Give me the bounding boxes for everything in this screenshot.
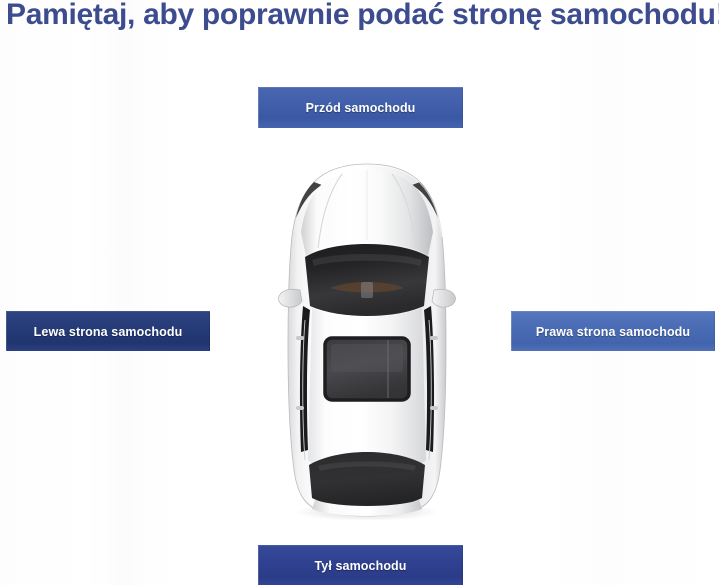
car-top-view-illustration — [272, 160, 462, 520]
label-rear-of-car[interactable]: Tył samochodu — [258, 545, 463, 585]
page-title: Pamiętaj, aby poprawnie podać stronę sam… — [6, 0, 719, 35]
label-left-text: Lewa strona samochodu — [34, 325, 183, 339]
right-side-mirror — [432, 289, 456, 307]
label-right-text: Prawa strona samochodu — [536, 325, 690, 339]
left-side-mirror — [278, 289, 302, 307]
rearview-mirror — [361, 282, 373, 298]
label-front-of-car[interactable]: Przód samochodu — [258, 87, 463, 128]
slide-canvas: Pamiętaj, aby poprawnie podać stronę sam… — [0, 0, 719, 585]
right-front-door-handle — [430, 336, 438, 340]
sunroof-inner-panel — [331, 344, 403, 372]
rear-window — [309, 452, 425, 508]
label-left-side-of-car[interactable]: Lewa strona samochodu — [6, 311, 210, 351]
label-right-side-of-car[interactable]: Prawa strona samochodu — [511, 311, 715, 351]
left-front-door-handle — [296, 336, 304, 340]
label-rear-text: Tył samochodu — [314, 559, 406, 573]
label-front-text: Przód samochodu — [306, 101, 416, 115]
